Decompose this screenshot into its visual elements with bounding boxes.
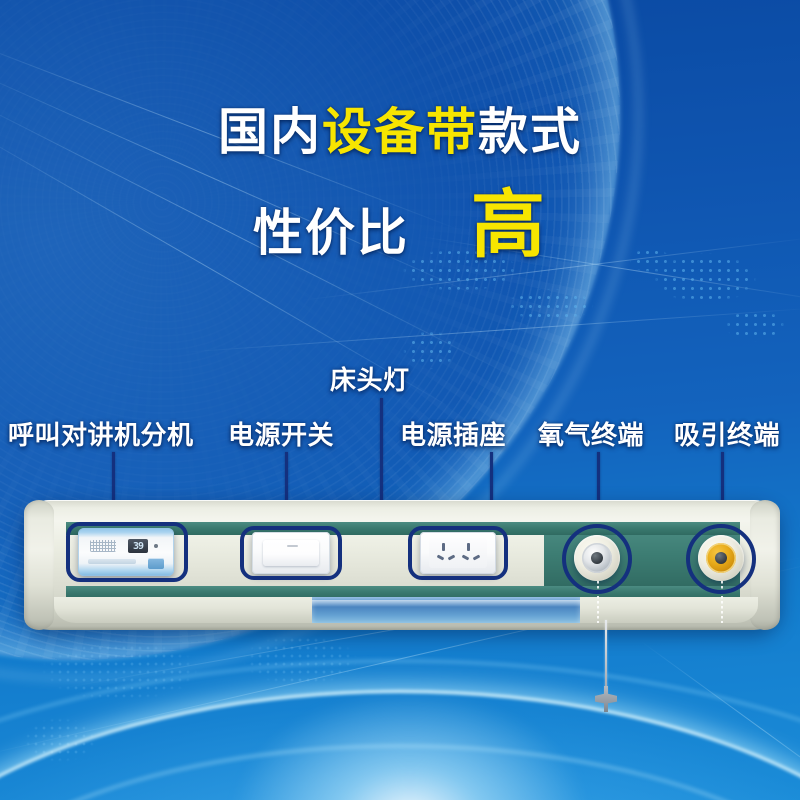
bottom-glow: [230, 690, 590, 800]
socket-slot-r1: [467, 543, 470, 551]
suction-terminal-cord: [721, 581, 723, 623]
socket-faceplate: [429, 538, 487, 568]
callout-label-oxygen-terminal: 氧气终端: [538, 415, 644, 452]
speaker-grille-icon: [90, 540, 116, 552]
callout-label-suction-terminal: 吸引终端: [674, 415, 780, 452]
panel-lower-rail: [54, 597, 758, 623]
power-switch[interactable]: [252, 532, 330, 574]
socket-slot-r3: [473, 555, 481, 561]
dot-matrix-world-map: [400, 230, 800, 415]
suction-terminal-port: [715, 552, 727, 564]
panel-rail-blue-section: [312, 597, 580, 623]
status-led-icon: [154, 544, 158, 548]
promo-banner: 国内设备带款式 性价比高 呼叫对讲机分机 电源开关 床头灯 电源插座 氧气终端 …: [0, 0, 800, 800]
socket-slot-l2: [437, 555, 445, 561]
callout-label-bed-head-lamp: 床头灯: [330, 360, 410, 397]
oxygen-terminal-face: [582, 543, 612, 573]
intercom-call-button[interactable]: [148, 558, 164, 569]
nurse-call-intercom[interactable]: 39: [78, 528, 174, 576]
socket-slot-l1: [442, 543, 445, 551]
socket-slot-r2: [462, 555, 470, 561]
intercom-display: 39: [128, 539, 148, 553]
suction-terminal[interactable]: [698, 535, 744, 581]
callout-label-nurse-call-intercom: 呼叫对讲机分机: [8, 415, 194, 452]
power-socket[interactable]: [420, 532, 496, 574]
panel-end-cap-left: [24, 500, 54, 630]
switch-rocker[interactable]: [263, 540, 319, 566]
callout-label-power-switch: 电源开关: [228, 415, 334, 452]
intercom-lower-grille: [88, 559, 136, 564]
oxygen-terminal[interactable]: [574, 535, 620, 581]
suction-terminal-face: [706, 543, 736, 573]
socket-slot-l3: [448, 555, 456, 561]
switch-indicator-mark: [287, 545, 298, 547]
oxygen-terminal-port: [591, 552, 603, 564]
oxygen-terminal-cord: [597, 581, 599, 623]
pull-cord-pendant-icon[interactable]: [595, 686, 617, 712]
callout-label-power-socket: 电源插座: [400, 415, 506, 452]
